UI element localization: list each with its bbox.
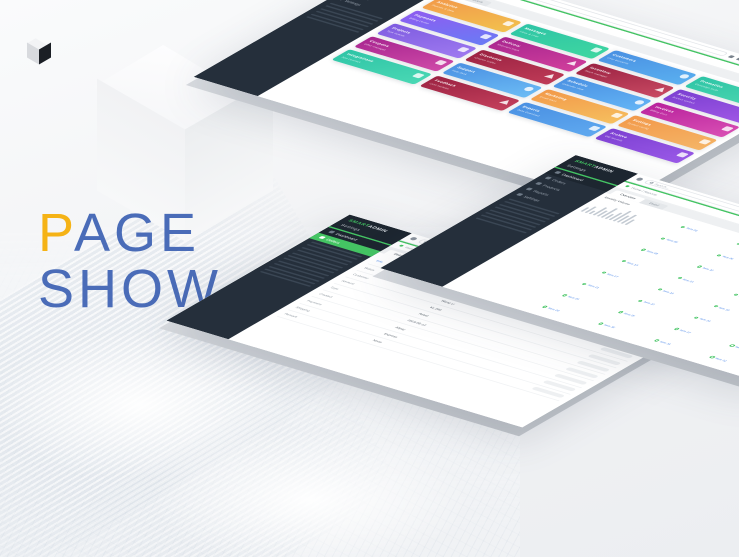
breadcrumb-dot-icon [625, 185, 631, 187]
sidebar-item-label: Orders [325, 238, 342, 244]
table-cell-link[interactable]: Item 30 [603, 324, 617, 329]
table-cell-link[interactable]: Item 01 [685, 227, 699, 232]
gear-icon [516, 193, 523, 196]
hamburger-menu-icon[interactable] [635, 177, 644, 181]
chart-icon [525, 187, 532, 190]
table-cell-link[interactable]: Item 14 [681, 278, 695, 283]
table-cell-link[interactable]: Item 29 [547, 307, 561, 312]
isometric-cube-small-icon [27, 38, 53, 66]
grid-icon [554, 171, 561, 174]
cart-icon [318, 236, 325, 239]
table-cell-link[interactable]: Item 18 [662, 289, 676, 294]
hamburger-menu-icon[interactable] [409, 237, 418, 241]
table-cell-link[interactable]: Item 23 [698, 318, 712, 323]
grid-icon [328, 230, 335, 233]
table-cell-link[interactable]: Item 09 [645, 250, 659, 255]
sidebar-item-label: Settings [522, 195, 541, 202]
table-cell-link[interactable]: Item 05 [665, 239, 679, 244]
table-cell-link[interactable]: Item 26 [622, 312, 636, 317]
table-cell-link[interactable]: Item 06 [721, 255, 735, 260]
status-dot-icon [736, 243, 739, 246]
poster-canvas: PAGE SHOW SMARTADMIN Settings Dashboard [0, 0, 739, 557]
table-cell-link[interactable]: Item 28 [734, 346, 739, 351]
title-accent-letter: P [38, 203, 74, 263]
table-cell-link[interactable]: Item 22 [642, 301, 656, 306]
page-title: PAGE SHOW [38, 205, 222, 317]
title-rest-1: AGE [74, 203, 200, 263]
table-cell-link[interactable]: Item 21 [586, 284, 600, 289]
search-placeholder: Search... [653, 183, 671, 189]
breadcrumb-dot-icon [399, 245, 405, 247]
title-line-1: PAGE [38, 205, 222, 261]
table-cell-link[interactable]: Item 17 [606, 273, 620, 278]
cart-icon [544, 176, 551, 179]
box-icon [535, 182, 542, 185]
mockup-table-dashboard: SMARTADMIN Settings Dashboard Orders Pro… [478, 155, 739, 381]
sidebar-item-label: Settings [344, 0, 363, 6]
table-cell-link[interactable]: Item 31 [658, 340, 672, 345]
table-cell-link[interactable]: Item 10 [701, 267, 715, 272]
table-cell-link[interactable]: Item 13 [626, 261, 640, 266]
form-active-link[interactable]: Info [375, 260, 384, 264]
home-icon[interactable] [728, 55, 735, 58]
content-area: Search... Export Add [442, 174, 739, 381]
table-cell-link[interactable]: Item 32 [714, 357, 728, 362]
table-cell-link[interactable]: Item 27 [678, 329, 692, 334]
table-cell-link[interactable]: Item 25 [566, 295, 580, 300]
table-cell-link[interactable]: Item 19 [717, 306, 731, 311]
